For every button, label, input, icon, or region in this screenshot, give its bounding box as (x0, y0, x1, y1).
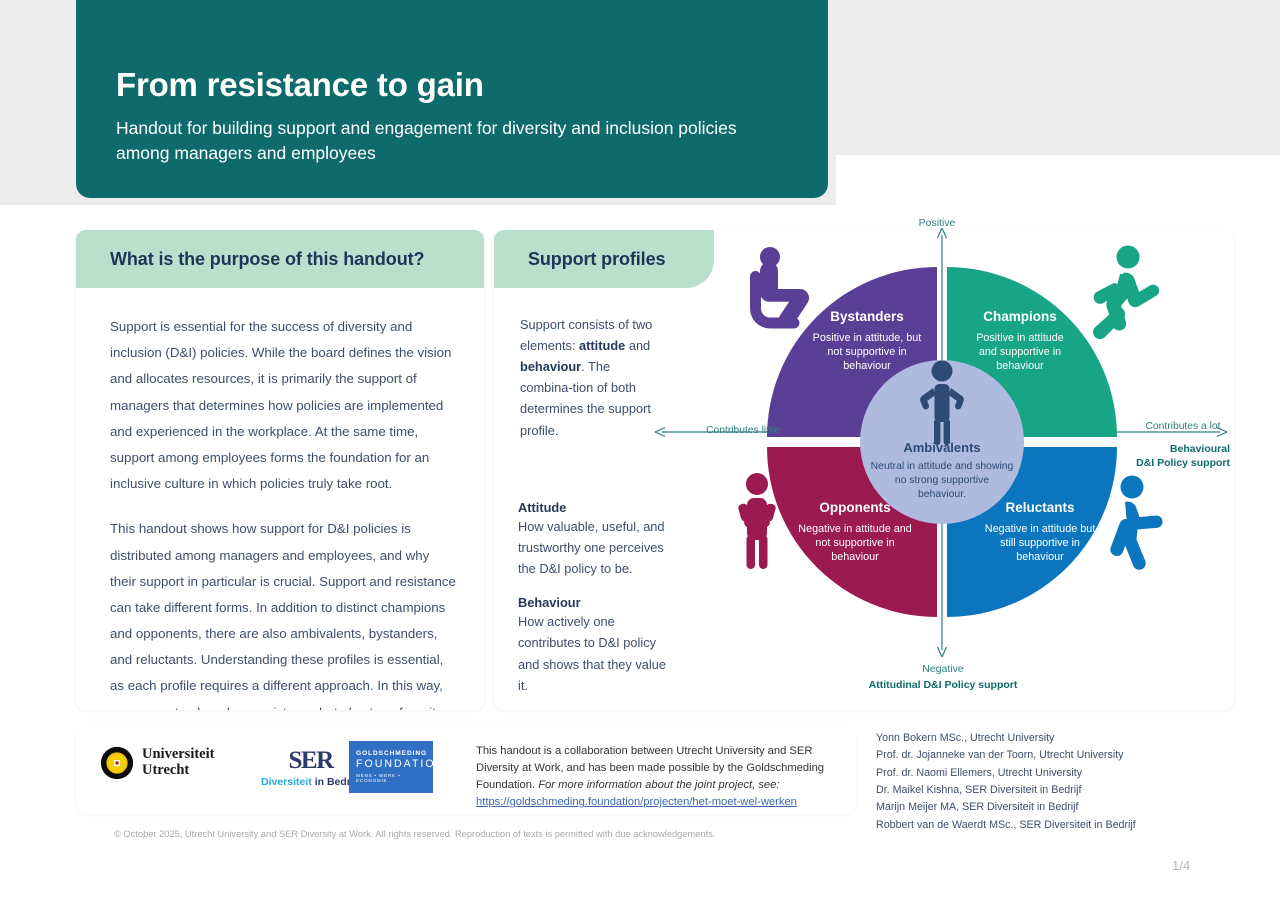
author-item: Dr. Maikel Kishna, SER Diversiteit in Be… (876, 782, 1176, 799)
project-link[interactable]: https://goldschmeding.foundation/project… (476, 796, 797, 808)
walking-person-icon (1110, 476, 1162, 570)
author-item: Marijn Meijer MA, SER Diversiteit in Bed… (876, 799, 1176, 816)
running-person-icon (1093, 246, 1159, 340)
axis-label-contributes-little: Contributes little (706, 425, 780, 436)
gf-line-3: MENS • WERK • ECONOMIE (356, 773, 427, 783)
ser-wordmark: SER (261, 748, 360, 773)
purpose-paragraph-1: Support is essential for the success of … (110, 314, 458, 497)
label-ambivalents-desc-2: no strong supportive (895, 475, 989, 486)
purpose-card: What is the purpose of this handout? Sup… (76, 230, 484, 710)
label-bystanders-desc-2: not supportive in (827, 346, 906, 358)
author-item: Prof. dr. Naomi Ellemers, Utrecht Univer… (876, 765, 1176, 782)
label-champions-desc-1: Positive in attitude (976, 332, 1064, 344)
logo-goldschmeding-foundation: GOLDSCHMEDING FOUNDATION MENS • WERK • E… (349, 741, 433, 793)
axis-title-behavioural-2: D&I Policy support (1136, 457, 1230, 469)
axis-title-attitudinal: Attitudinal D&I Policy support (869, 679, 1018, 691)
header-banner: From resistance to gain Handout for buil… (76, 0, 828, 198)
collaboration-note: This handout is a collaboration between … (476, 743, 846, 811)
intro-bold-attitude: attitude (579, 338, 625, 353)
utrecht-university-wordmark: Universiteit Utrecht (142, 747, 214, 778)
label-reluctants-desc-3: behaviour (1016, 551, 1064, 563)
intro-bold-behaviour: behaviour (520, 359, 581, 374)
ser-tagline-accent: Diversiteit (261, 776, 312, 788)
label-reluctants-desc-2: still supportive in (1000, 537, 1080, 549)
purpose-card-body: Support is essential for the success of … (110, 314, 458, 710)
logo-utrecht-university: Universiteit Utrecht (100, 746, 214, 780)
label-champions-title: Champions (983, 309, 1057, 324)
utrecht-sun-icon (100, 746, 134, 780)
label-reluctants-title: Reluctants (1005, 500, 1074, 515)
author-item: Robbert van de Waerdt MSc., SER Diversit… (876, 817, 1176, 834)
label-reluctants-desc-1: Negative in attitude but (985, 523, 1095, 535)
ser-tagline: Diversiteit in Bedrijf (261, 776, 360, 788)
label-ambivalents-title: Ambivalents (903, 440, 980, 455)
purpose-card-header: What is the purpose of this handout? (76, 230, 484, 288)
label-bystanders-title: Bystanders (830, 309, 904, 324)
collaboration-text-italic: For more information about the joint pro… (538, 779, 779, 791)
uu-line-2: Utrecht (142, 763, 214, 779)
uu-line-1: Universiteit (142, 747, 214, 763)
label-ambivalents-desc-1: Neutral in attitude and showing (871, 461, 1014, 472)
page-root: From resistance to gain Handout for buil… (0, 0, 1280, 912)
author-item: Prof. dr. Jojanneke van der Toorn, Utrec… (876, 747, 1176, 764)
page-title: From resistance to gain (116, 66, 484, 104)
support-profiles-quadrant-diagram: Bystanders Positive in attitude, but not… (620, 195, 1240, 700)
label-champions-desc-2: and supportive in (979, 346, 1061, 358)
axis-label-positive: Positive (919, 217, 956, 229)
page-subtitle: Handout for building support and engagem… (116, 116, 756, 166)
axis-label-negative: Negative (922, 663, 964, 675)
label-opponents-desc-1: Negative in attitude and (798, 523, 911, 535)
label-opponents-desc-3: behaviour (831, 551, 879, 563)
footer-card: Universiteit Utrecht SER Diversiteit in … (76, 726, 856, 814)
author-item: Yonn Bokern MSc., Utrecht University (876, 730, 1176, 747)
label-champions-desc-3: behaviour (996, 360, 1044, 372)
gf-line-2: FOUNDATION (356, 758, 427, 770)
arms-crossed-person-icon (738, 473, 776, 569)
purpose-card-title: What is the purpose of this handout? (110, 249, 424, 270)
label-ambivalents-desc-3: behaviour. (918, 489, 966, 500)
purpose-paragraph-2: This handout shows how support for D&I p… (110, 516, 458, 710)
axis-title-behavioural-1: Behavioural (1170, 443, 1230, 455)
logo-ser: SER Diversiteit in Bedrijf (261, 748, 360, 788)
label-opponents-desc-2: not supportive in (815, 537, 894, 549)
label-bystanders-desc-3: behaviour (843, 360, 891, 372)
page-number: 1/4 (1172, 858, 1190, 873)
seated-person-icon (750, 247, 809, 329)
gf-line-1: GOLDSCHMEDING (356, 750, 427, 757)
authors-list: Yonn Bokern MSc., Utrecht University Pro… (876, 730, 1176, 834)
label-opponents-title: Opponents (819, 500, 890, 515)
axis-label-contributes-a-lot: Contributes a lot (1146, 421, 1221, 432)
copyright-notice: © October 2025, Utrecht University and S… (114, 829, 715, 839)
label-bystanders-desc-1: Positive in attitude, but (813, 332, 922, 344)
